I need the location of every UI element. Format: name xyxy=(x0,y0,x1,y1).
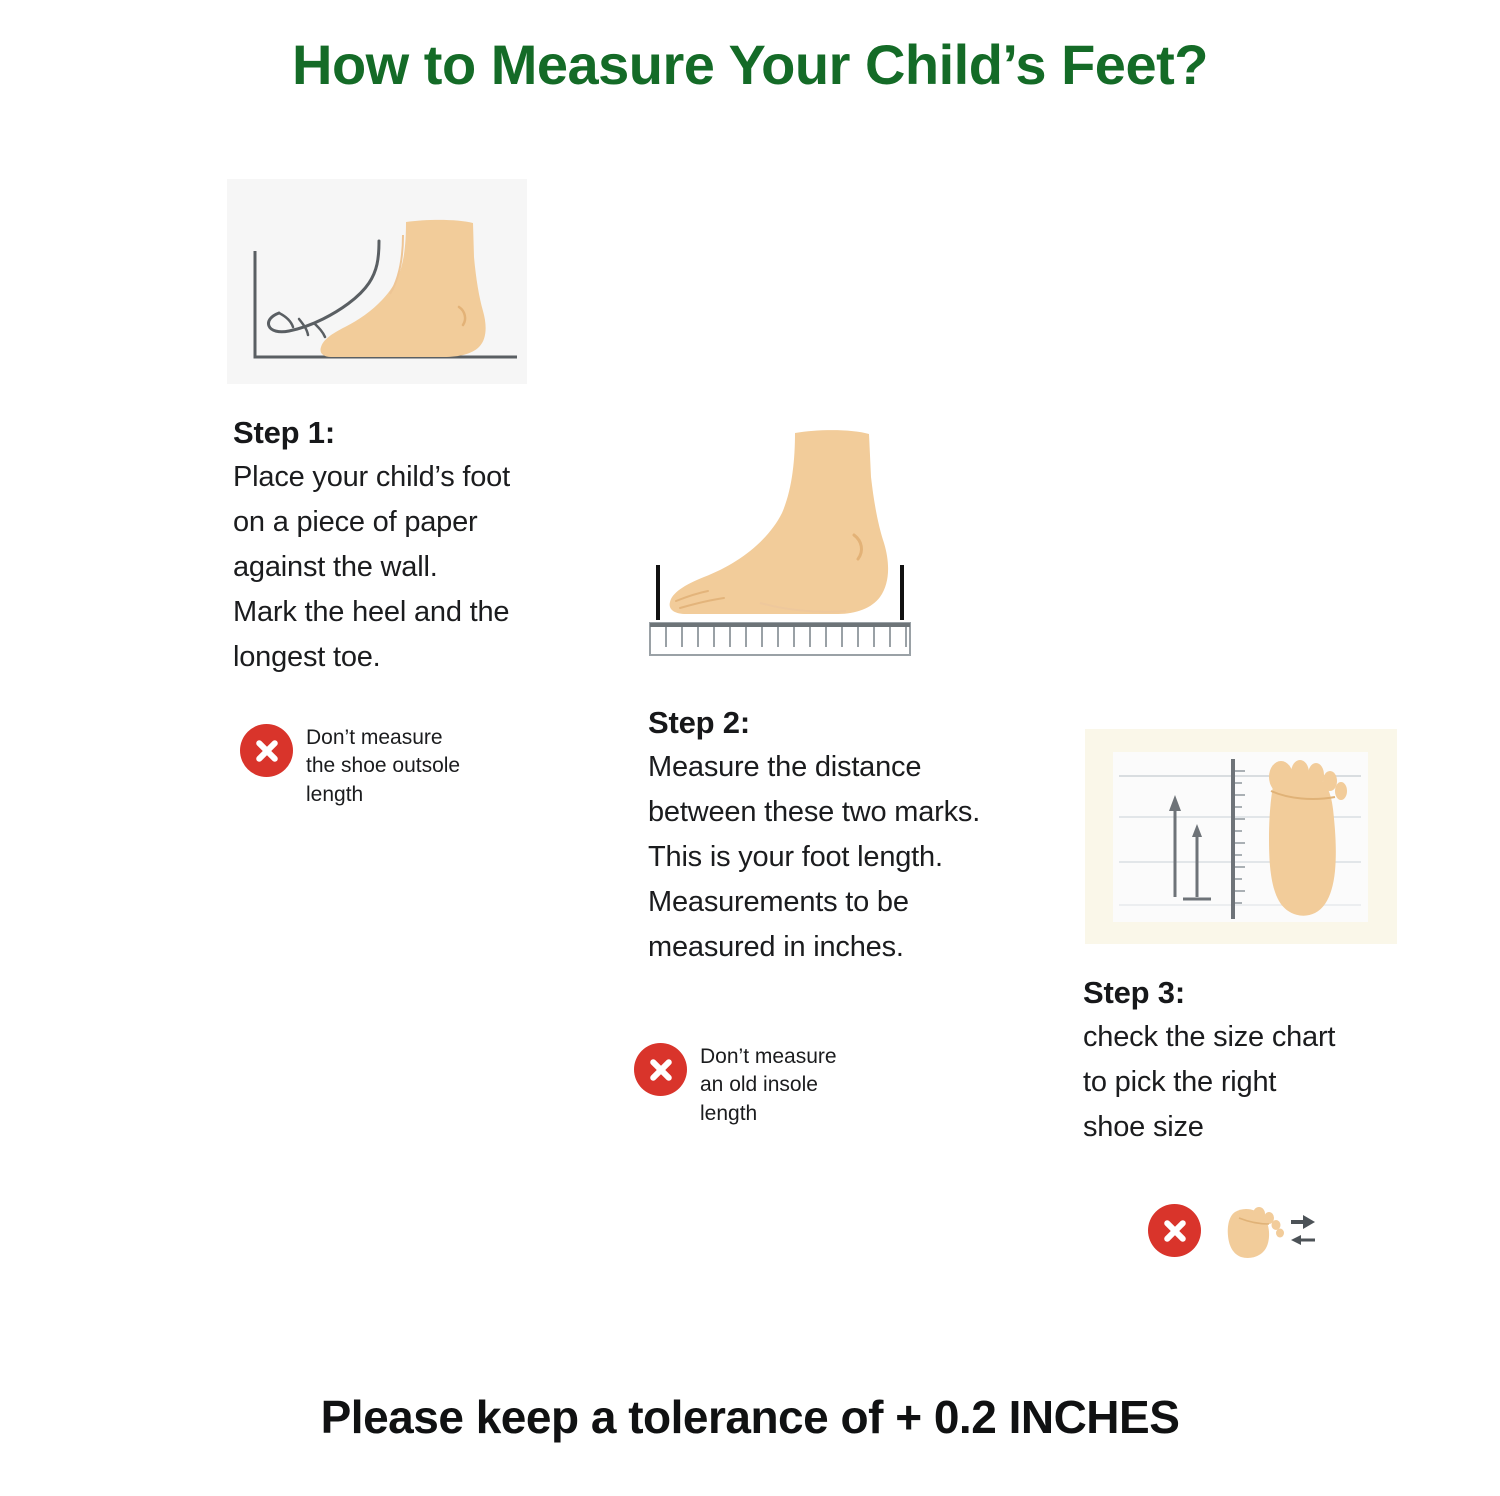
step-2-warning-line-1: Don’t measure xyxy=(700,1043,837,1071)
step-2-text-block: Step 2: Measure the distance between the… xyxy=(648,705,1088,970)
red-x-circle-icon xyxy=(1148,1204,1201,1257)
step-3-line-1: check the size chart xyxy=(1083,1015,1423,1060)
step-2-line-1: Measure the distance xyxy=(648,745,1088,790)
step-3-line-3: shoe size xyxy=(1083,1105,1423,1150)
step-2-warning-line-2: an old insole xyxy=(700,1071,837,1099)
step-1-warning: Don’t measure the shoe outsole length xyxy=(240,722,460,809)
foot-profile-against-wall-icon xyxy=(227,179,527,384)
step-1-line-2: on a piece of paper xyxy=(233,500,563,545)
step-2-line-5: measured in inches. xyxy=(648,925,1088,970)
step-3-warning xyxy=(1148,1202,1319,1262)
tolerance-note: Please keep a tolerance of + 0.2 INCHES xyxy=(0,1390,1500,1444)
red-x-circle-icon xyxy=(240,724,293,777)
step-1-line-3: against the wall. xyxy=(233,545,563,590)
infographic-canvas: How to Measure Your Child’s Feet? Step 1… xyxy=(0,0,1500,1496)
step-3-illustration xyxy=(1085,729,1397,944)
step-2-warning: Don’t measure an old insole length xyxy=(634,1041,837,1128)
red-x-circle-icon xyxy=(634,1043,687,1096)
step-1-warning-text: Don’t measure the shoe outsole length xyxy=(306,722,460,809)
foot-profile-with-ruler-icon xyxy=(640,415,950,665)
step-3-line-2: to pick the right xyxy=(1083,1060,1423,1105)
step-1-line-4: Mark the heel and the xyxy=(233,590,563,635)
step-1-line-5: longest toe. xyxy=(233,635,563,680)
step-1-line-1: Place your child’s foot xyxy=(233,455,563,500)
foot-sole-on-measuring-grid-icon xyxy=(1085,729,1397,944)
step-2-body: Measure the distance between these two m… xyxy=(648,745,1088,970)
step-2-warning-text: Don’t measure an old insole length xyxy=(700,1041,837,1128)
step-2-heading: Step 2: xyxy=(648,705,1088,741)
footprint-with-opposing-arrows-icon xyxy=(1219,1202,1319,1262)
step-1-warning-line-1: Don’t measure xyxy=(306,724,460,752)
step-1-body: Place your child’s foot on a piece of pa… xyxy=(233,455,563,680)
step-1-warning-line-3: length xyxy=(306,781,460,809)
step-1-text-block: Step 1: Place your child’s foot on a pie… xyxy=(233,415,563,680)
step-2-line-3: This is your foot length. xyxy=(648,835,1088,880)
step-1-warning-line-2: the shoe outsole xyxy=(306,752,460,780)
step-3-text-block: Step 3: check the size chart to pick the… xyxy=(1083,975,1423,1150)
step-3-heading: Step 3: xyxy=(1083,975,1423,1011)
step-3-body: check the size chart to pick the right s… xyxy=(1083,1015,1423,1150)
step-1-heading: Step 1: xyxy=(233,415,563,451)
step-1-illustration xyxy=(227,179,527,384)
step-2-illustration xyxy=(640,415,950,665)
step-2-line-2: between these two marks. xyxy=(648,790,1088,835)
step-2-line-4: Measurements to be xyxy=(648,880,1088,925)
page-title: How to Measure Your Child’s Feet? xyxy=(0,32,1500,97)
ruler-icon xyxy=(650,623,910,655)
step-2-warning-line-3: length xyxy=(700,1100,837,1128)
